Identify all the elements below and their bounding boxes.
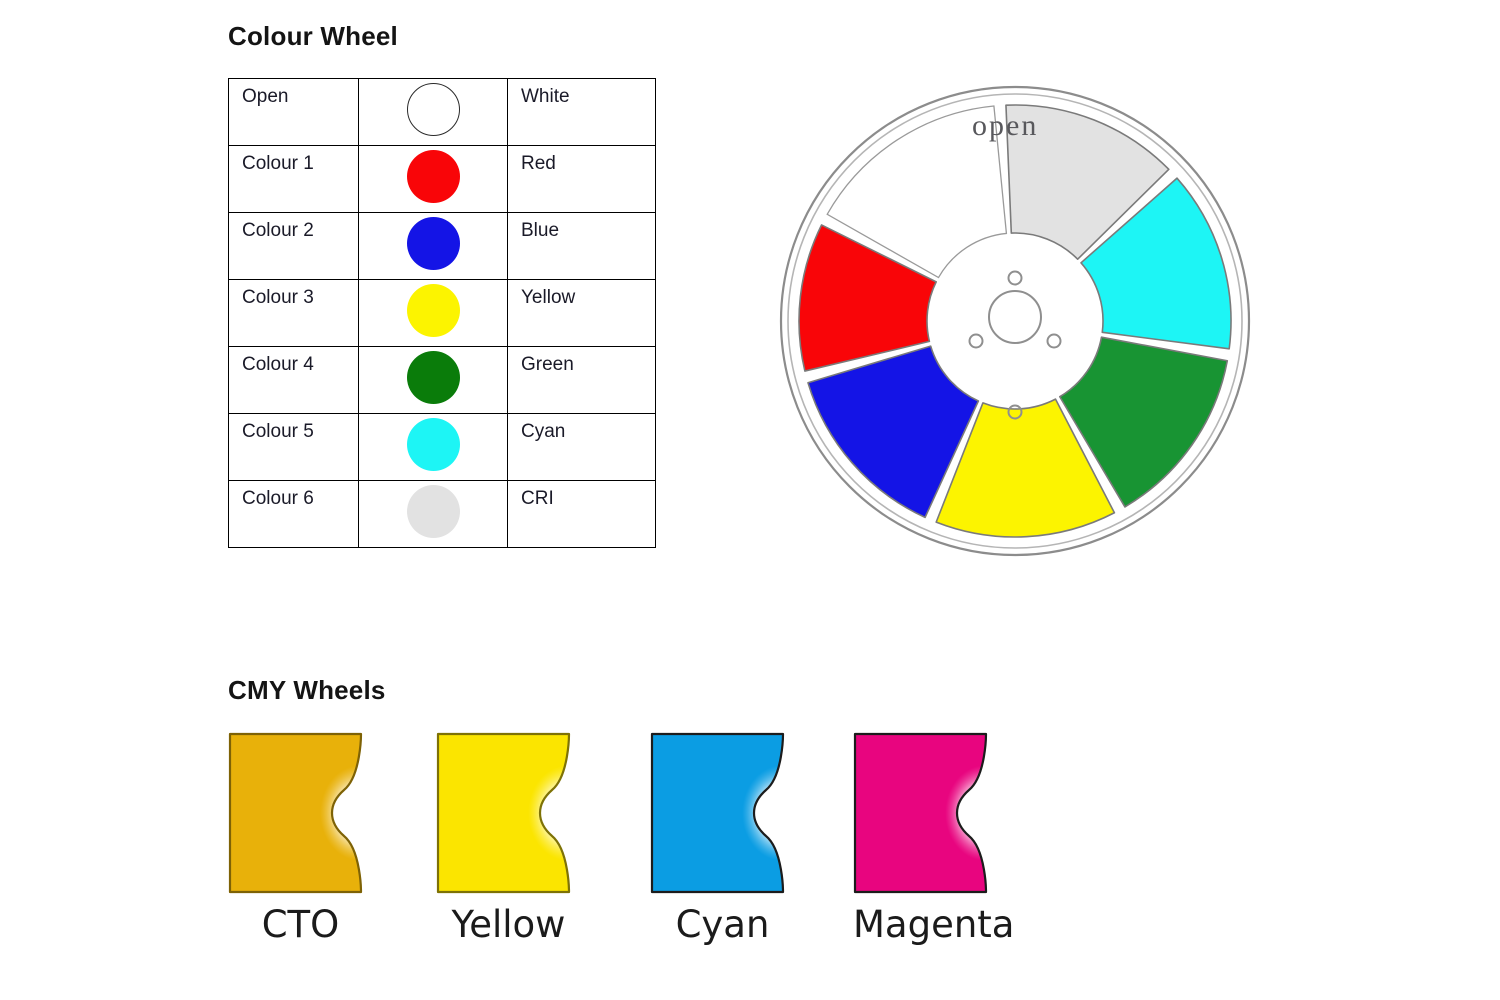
cmy-wheel-row: CTOYellowCyanMagenta [228, 732, 1228, 972]
legend-colour-name-cell: CRI [508, 481, 656, 548]
legend-swatch-cell [359, 481, 508, 548]
table-row: Colour 4Green [229, 347, 656, 414]
legend-slot-cell: Colour 5 [229, 414, 359, 481]
legend-slot-label: Colour 5 [229, 414, 358, 441]
legend-colour-name: Cyan [508, 414, 655, 441]
cmy-wheel-item: Magenta [853, 732, 1008, 946]
legend-colour-name: Blue [508, 213, 655, 240]
legend-swatch-cell [359, 213, 508, 280]
colour-legend-table: OpenWhiteColour 1RedColour 2BlueColour 3… [228, 78, 656, 548]
legend-slot-label: Open [229, 79, 358, 106]
legend-colour-name-cell: Cyan [508, 414, 656, 481]
table-row: OpenWhite [229, 79, 656, 146]
legend-colour-name: White [508, 79, 655, 106]
legend-slot-label: Colour 6 [229, 481, 358, 508]
legend-colour-swatch [407, 217, 460, 270]
legend-slot-cell: Colour 4 [229, 347, 359, 414]
legend-swatch-cell [359, 146, 508, 213]
table-row: Colour 5Cyan [229, 414, 656, 481]
table-row: Colour 6CRI [229, 481, 656, 548]
legend-slot-label: Colour 4 [229, 347, 358, 374]
legend-colour-name-cell: Red [508, 146, 656, 213]
cmy-wheel-swatch [853, 732, 998, 894]
legend-swatch-cell [359, 280, 508, 347]
legend-colour-swatch [407, 150, 460, 203]
cmy-swatch-gradient [230, 734, 361, 892]
cmy-wheel-swatch [436, 732, 581, 894]
legend-colour-swatch [407, 284, 460, 337]
page-title-cmy-wheels: CMY Wheels [228, 675, 386, 706]
legend-swatch-cell [359, 79, 508, 146]
legend-colour-name-cell: Blue [508, 213, 656, 280]
colour-wheel-svg: open [776, 82, 1254, 560]
table-row: Colour 1Red [229, 146, 656, 213]
legend-colour-swatch [407, 418, 460, 471]
colour-wheel-diagram: open [776, 82, 1254, 560]
cmy-swatch-gradient [652, 734, 783, 892]
legend-colour-swatch [407, 351, 460, 404]
legend-colour-name: Yellow [508, 280, 655, 307]
cmy-swatch-gradient [855, 734, 986, 892]
cmy-wheel-item: Yellow [436, 732, 591, 946]
cmy-wheel-label: Magenta [853, 903, 998, 946]
legend-colour-name: Red [508, 146, 655, 173]
legend-colour-swatch [407, 83, 460, 136]
cmy-wheel-item: Cyan [650, 732, 805, 946]
cmy-wheel-item: CTO [228, 732, 383, 946]
cmy-wheel-swatch [650, 732, 795, 894]
page-title-colour-wheel: Colour Wheel [228, 21, 398, 52]
table-row: Colour 3Yellow [229, 280, 656, 347]
cmy-wheel-label: Yellow [436, 903, 581, 946]
legend-colour-name-cell: Yellow [508, 280, 656, 347]
legend-slot-label: Colour 1 [229, 146, 358, 173]
legend-slot-label: Colour 2 [229, 213, 358, 240]
legend-colour-name: Green [508, 347, 655, 374]
legend-colour-name: CRI [508, 481, 655, 508]
legend-colour-name-cell: Green [508, 347, 656, 414]
table-row: Colour 2Blue [229, 213, 656, 280]
legend-slot-cell: Colour 1 [229, 146, 359, 213]
legend-slot-cell: Colour 6 [229, 481, 359, 548]
wheel-open-label: open [972, 109, 1038, 142]
legend-colour-swatch [407, 485, 460, 538]
legend-slot-cell: Open [229, 79, 359, 146]
legend-colour-name-cell: White [508, 79, 656, 146]
legend-slot-cell: Colour 2 [229, 213, 359, 280]
cmy-wheel-swatch [228, 732, 373, 894]
cmy-wheel-label: CTO [228, 903, 373, 946]
cmy-wheel-label: Cyan [650, 903, 795, 946]
legend-slot-cell: Colour 3 [229, 280, 359, 347]
legend-swatch-cell [359, 414, 508, 481]
legend-swatch-cell [359, 347, 508, 414]
cmy-swatch-gradient [438, 734, 569, 892]
legend-slot-label: Colour 3 [229, 280, 358, 307]
